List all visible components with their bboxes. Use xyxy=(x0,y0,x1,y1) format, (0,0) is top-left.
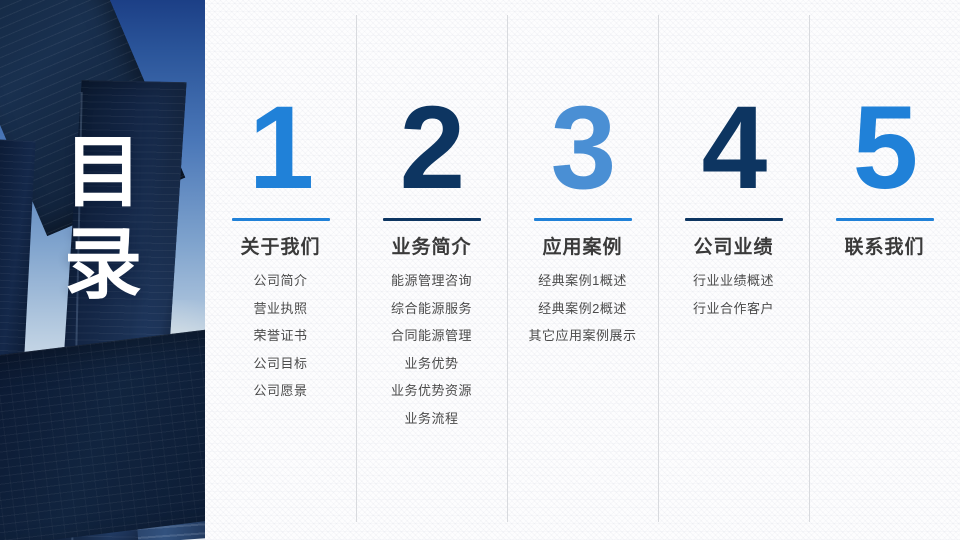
list-item[interactable]: 营业执照 xyxy=(253,301,307,317)
agenda-column-3[interactable]: 3 应用案例 经典案例1概述 经典案例2概述 其它应用案例展示 xyxy=(507,0,658,540)
column-rule xyxy=(836,218,934,221)
agenda-column-4[interactable]: 4 公司业绩 行业业绩概述 行业合作客户 xyxy=(658,0,809,540)
list-item[interactable]: 经典案例2概述 xyxy=(538,301,627,317)
list-item[interactable]: 综合能源服务 xyxy=(391,301,472,317)
agenda-column-2[interactable]: 2 业务简介 能源管理咨询 综合能源服务 合同能源管理 业务优势 业务优势资源 … xyxy=(356,0,507,540)
column-rule xyxy=(534,218,632,221)
list-item[interactable]: 业务流程 xyxy=(404,411,458,427)
column-title: 联系我们 xyxy=(844,232,924,259)
column-title: 业务简介 xyxy=(391,232,471,259)
column-item-list: 经典案例1概述 经典案例2概述 其它应用案例展示 xyxy=(528,273,636,344)
column-item-list: 公司简介 营业执照 荣誉证书 公司目标 公司愿景 xyxy=(253,273,307,399)
list-item[interactable]: 业务优势资源 xyxy=(391,383,472,399)
column-rule xyxy=(232,218,330,221)
slide-root: 目录 1 关于我们 公司简介 营业执照 荣誉证书 公司目标 公司愿景 2 业务简… xyxy=(0,0,960,540)
list-item[interactable]: 其它应用案例展示 xyxy=(528,328,636,344)
column-title: 公司业绩 xyxy=(693,232,773,259)
column-item-list: 能源管理咨询 综合能源服务 合同能源管理 业务优势 业务优势资源 业务流程 xyxy=(391,273,472,427)
list-item[interactable]: 行业合作客户 xyxy=(693,301,774,317)
column-number: 5 xyxy=(853,92,917,204)
column-item-list: 行业业绩概述 行业合作客户 xyxy=(693,273,774,316)
column-number: 2 xyxy=(400,92,464,204)
column-number: 3 xyxy=(551,92,615,204)
building-facade-texture xyxy=(0,327,205,540)
list-item[interactable]: 业务优势 xyxy=(404,356,458,372)
page-title: 目录 xyxy=(48,126,158,310)
building-podium xyxy=(0,327,205,540)
list-item[interactable]: 公司愿景 xyxy=(253,383,307,399)
list-item[interactable]: 荣誉证书 xyxy=(253,328,307,344)
column-title: 关于我们 xyxy=(240,232,320,259)
agenda-column-1[interactable]: 1 关于我们 公司简介 营业执照 荣誉证书 公司目标 公司愿景 xyxy=(205,0,356,540)
list-item[interactable]: 经典案例1概述 xyxy=(538,273,627,289)
list-item[interactable]: 能源管理咨询 xyxy=(391,273,472,289)
column-number: 1 xyxy=(249,92,313,204)
column-rule xyxy=(685,218,783,221)
list-item[interactable]: 行业业绩概述 xyxy=(693,273,774,289)
list-item[interactable]: 合同能源管理 xyxy=(391,328,472,344)
column-number: 4 xyxy=(702,92,766,204)
list-item[interactable]: 公司目标 xyxy=(253,356,307,372)
column-title: 应用案例 xyxy=(542,232,622,259)
agenda-columns: 1 关于我们 公司简介 营业执照 荣誉证书 公司目标 公司愿景 2 业务简介 能… xyxy=(205,0,960,540)
list-item[interactable]: 公司简介 xyxy=(253,273,307,289)
agenda-column-5[interactable]: 5 联系我们 xyxy=(809,0,960,540)
column-rule xyxy=(383,218,481,221)
cover-photo-panel: 目录 xyxy=(0,0,205,540)
